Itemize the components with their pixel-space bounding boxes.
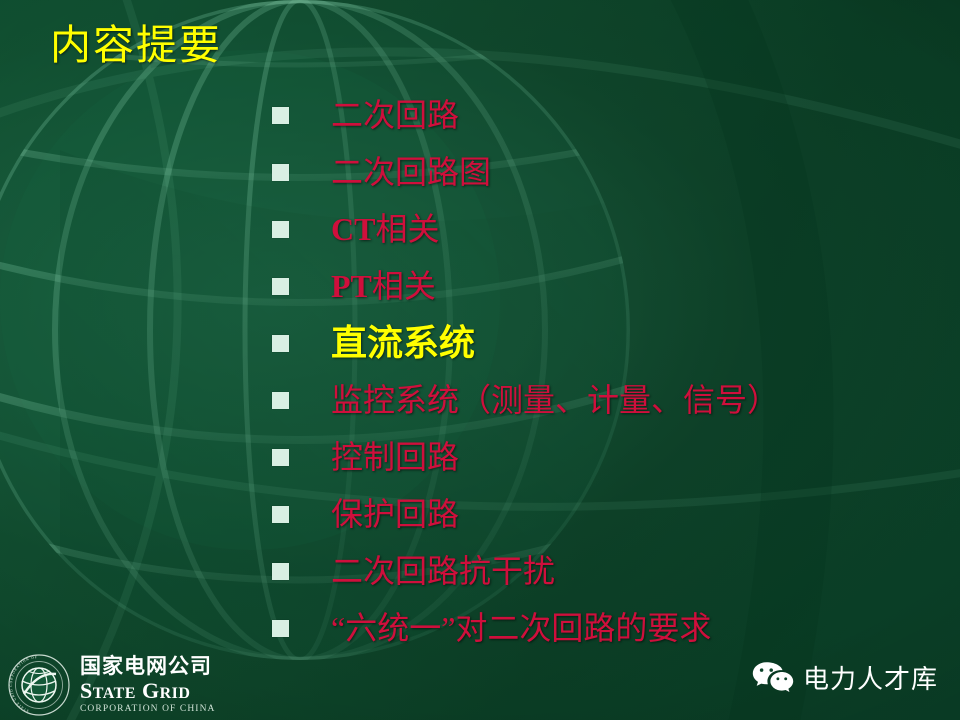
bullet-square-icon	[272, 506, 289, 523]
bullet-square-icon	[272, 278, 289, 295]
bullet-square-icon	[272, 563, 289, 580]
list-item-latin: PT	[331, 268, 372, 304]
list-item-label: 监控系统（测量、计量、信号）	[331, 384, 779, 416]
list-item[interactable]: 二次回路抗干扰	[272, 542, 942, 599]
wechat-label: 电力人才库	[803, 659, 938, 696]
state-grid-globe-icon: STATE GRID CORPORATION OF	[8, 654, 70, 716]
page-title: 内容提要	[50, 22, 222, 69]
list-item-latin: CT	[331, 211, 375, 247]
list-item-label: PT相关	[331, 270, 436, 302]
outline-list: 二次回路 二次回路图 CT相关 PT相关 直流系统 监控系统（测量、计量、信号）…	[272, 86, 942, 656]
list-item-zh: 相关	[372, 268, 436, 304]
logo-company-sub: CORPORATION OF CHINA	[80, 705, 216, 715]
list-item[interactable]: 监控系统（测量、计量、信号）	[272, 371, 942, 428]
list-item[interactable]: CT相关	[272, 200, 942, 257]
list-item[interactable]: PT相关	[272, 257, 942, 314]
list-item[interactable]: 保护回路	[272, 485, 942, 542]
slide-canvas: 内容提要 二次回路 二次回路图 CT相关 PT相关 直流系统 监控系统（测量、计…	[0, 0, 960, 720]
list-item-zh: 相关	[375, 211, 439, 247]
logo-company-en: STATE GRID	[80, 680, 216, 702]
logo-company-cn: 国家电网公司	[80, 656, 216, 677]
list-item-highlighted[interactable]: 直流系统	[272, 314, 942, 371]
state-grid-logo-text: 国家电网公司 STATE GRID CORPORATION OF CHINA	[80, 656, 216, 715]
wechat-icon	[751, 660, 795, 696]
list-item-label: 保护回路	[331, 498, 459, 530]
bullet-square-icon	[272, 221, 289, 238]
wechat-watermark: 电力人才库	[751, 659, 938, 696]
list-item-label: 二次回路图	[331, 156, 491, 188]
bullet-square-icon	[272, 335, 289, 352]
list-item-label: CT相关	[331, 213, 439, 245]
list-item-label: 直流系统	[331, 325, 475, 361]
bullet-square-icon	[272, 164, 289, 181]
list-item-label: 二次回路	[331, 99, 459, 131]
state-grid-logo: STATE GRID CORPORATION OF 国家电网公司 STATE G…	[8, 654, 216, 716]
list-item[interactable]: “六统一”对二次回路的要求	[272, 599, 942, 656]
bullet-square-icon	[272, 392, 289, 409]
list-item-label: 二次回路抗干扰	[331, 555, 555, 587]
list-item-label: “六统一”对二次回路的要求	[331, 612, 711, 644]
list-item[interactable]: 控制回路	[272, 428, 942, 485]
bullet-square-icon	[272, 449, 289, 466]
list-item[interactable]: 二次回路图	[272, 143, 942, 200]
list-item[interactable]: 二次回路	[272, 86, 942, 143]
bullet-square-icon	[272, 620, 289, 637]
list-item-label: 控制回路	[331, 441, 459, 473]
bullet-square-icon	[272, 107, 289, 124]
